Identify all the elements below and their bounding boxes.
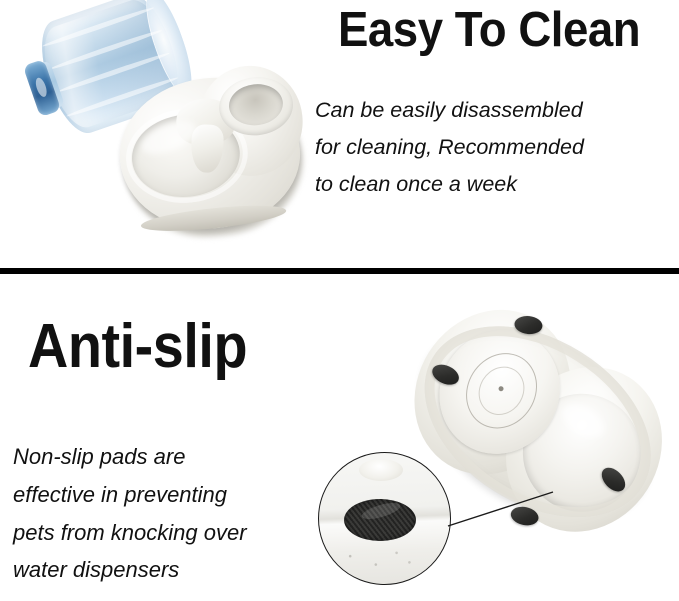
body-line: water dispensers [13,551,343,589]
body-line: for cleaning, Recommended [315,129,679,166]
heading-anti-slip: Anti-slip [28,311,247,382]
body-copy-easy-to-clean: Can be easily disassembled for cleaning,… [315,92,679,203]
body-line: Non-slip pads are [13,438,343,476]
body-copy-anti-slip: Non-slip pads are effective in preventin… [13,438,343,589]
magnified-surface-bump [359,459,403,481]
heading-easy-to-clean: Easy To Clean [338,2,640,58]
body-line: effective in preventing [13,476,343,514]
body-line: to clean once a week [315,166,679,203]
body-line: pets from knocking over [13,514,343,552]
magnifier-callout-circle [318,452,451,585]
section-easy-to-clean: Easy To Clean Can be easily disassembled… [0,0,679,268]
product-image-bottle-and-base [0,0,320,262]
infographic-page: Easy To Clean Can be easily disassembled… [0,0,679,601]
body-line: Can be easily disassembled [315,92,679,129]
dispenser-base-illustration [109,59,316,253]
magnified-surface-texture [339,545,419,573]
